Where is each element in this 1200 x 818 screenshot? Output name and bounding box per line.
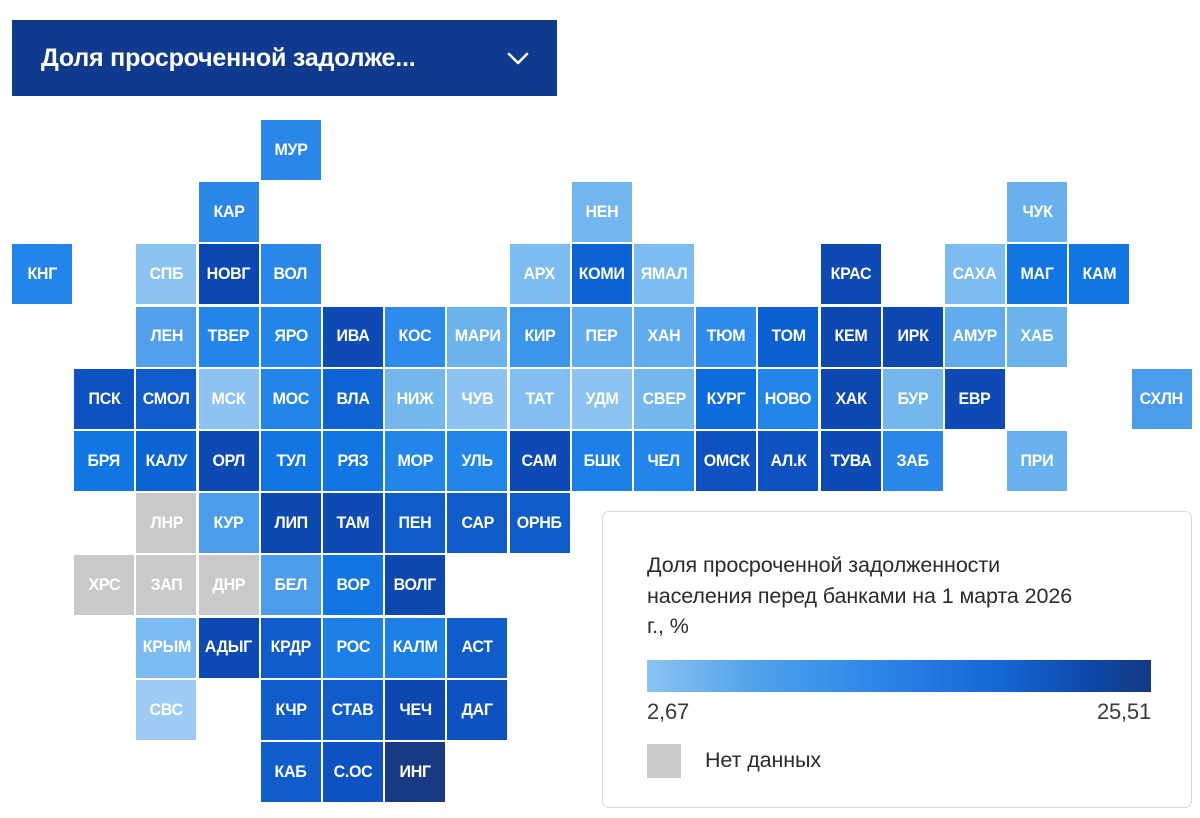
region-tile-label: САХА xyxy=(953,266,997,283)
region-tile-label: ХАБ xyxy=(1021,328,1054,345)
region-tile-МУР[interactable]: МУР xyxy=(261,120,321,180)
region-tile-label: КНГ xyxy=(27,266,57,283)
region-tile-label: ВОЛ xyxy=(274,266,308,283)
region-tile-КЕМ[interactable]: КЕМ xyxy=(821,307,881,367)
region-tile-ЯРО[interactable]: ЯРО xyxy=(261,307,321,367)
region-tile-ЧУК[interactable]: ЧУК xyxy=(1007,182,1067,242)
region-tile-НОВО[interactable]: НОВО xyxy=(758,369,818,429)
region-tile-СХЛН[interactable]: СХЛН xyxy=(1132,369,1192,429)
region-tile-label: ИВА xyxy=(337,328,370,345)
region-tile-ХАН[interactable]: ХАН xyxy=(634,307,694,367)
region-tile-label: КУР xyxy=(214,515,244,532)
region-tile-ТАМ[interactable]: ТАМ xyxy=(323,493,383,553)
region-tile-label: НИЖ xyxy=(397,391,434,408)
region-tile-label: ЛНР xyxy=(150,515,183,532)
region-tile-БУР[interactable]: БУР xyxy=(883,369,943,429)
region-tile-label: КАБ xyxy=(275,764,307,781)
region-tile-ТУВА[interactable]: ТУВА xyxy=(821,431,881,491)
region-tile-label: ВЛА xyxy=(336,391,369,408)
legend-scale: 2,67 25,51 xyxy=(647,699,1151,725)
region-tile-ТЮМ[interactable]: ТЮМ xyxy=(696,307,756,367)
region-tile-label: ОМСК xyxy=(703,453,749,470)
region-tile-СМОЛ[interactable]: СМОЛ xyxy=(136,369,196,429)
region-tile-АСТ[interactable]: АСТ xyxy=(447,618,507,678)
region-tile-label: С.ОС xyxy=(334,764,373,781)
region-tile-label: ВОР xyxy=(336,577,369,594)
region-tile-СТАВ[interactable]: СТАВ xyxy=(323,680,383,740)
region-tile-label: НОВО xyxy=(765,391,811,408)
region-tile-label: ДНР xyxy=(212,577,245,594)
region-tile-МОР[interactable]: МОР xyxy=(385,431,445,491)
legend-min-value: 2,67 xyxy=(647,699,689,725)
region-tile-label: АДЫГ xyxy=(205,639,252,656)
legend-title: Доля просроченной задолженности населени… xyxy=(647,550,1092,642)
region-tile-label: УДМ xyxy=(585,391,618,408)
region-tile-ОРЛ[interactable]: ОРЛ xyxy=(199,431,259,491)
region-tile-label: БРЯ xyxy=(88,453,120,470)
region-tile-МАРИ[interactable]: МАРИ xyxy=(447,307,507,367)
legend-nodata-row: Нет данных xyxy=(647,744,1147,778)
region-tile-label: СВС xyxy=(150,702,183,719)
region-tile-label: РЯЗ xyxy=(338,453,369,470)
region-tile-label: ОРНБ xyxy=(517,515,562,532)
region-tile-ХРС[interactable]: ХРС xyxy=(74,555,134,615)
region-tile-label: ДАГ xyxy=(462,702,493,719)
region-tile-label: МОР xyxy=(397,453,433,470)
region-tile-СПБ[interactable]: СПБ xyxy=(136,244,196,304)
region-tile-КРАС[interactable]: КРАС xyxy=(821,244,881,304)
region-tile-label: ЧУВ xyxy=(461,391,493,408)
region-tile-label: НОВГ xyxy=(207,266,250,283)
region-tile-label: КРДР xyxy=(271,639,311,656)
region-tile-label: ТУВА xyxy=(830,453,871,470)
region-tile-ОРНБ[interactable]: ОРНБ xyxy=(510,493,570,553)
region-tile-label: АМУР xyxy=(953,328,997,345)
region-tile-label: РОС xyxy=(336,639,370,656)
region-tile-label: ПЕР xyxy=(586,328,618,345)
legend-nodata-label: Нет данных xyxy=(705,748,821,773)
region-tile-label: КЧР xyxy=(275,702,306,719)
region-tile-ИРК[interactable]: ИРК xyxy=(883,307,943,367)
indicator-dropdown[interactable]: Доля просроченной задолже... xyxy=(12,20,557,96)
region-tile-label: ПЕН xyxy=(399,515,432,532)
region-tile-СВЕР[interactable]: СВЕР xyxy=(634,369,694,429)
region-tile-ТУЛ[interactable]: ТУЛ xyxy=(261,431,321,491)
region-tile-КАЛМ[interactable]: КАЛМ xyxy=(385,618,445,678)
region-tile-label: ЧЕЧ xyxy=(399,702,431,719)
region-tile-label: КАМ xyxy=(1082,266,1116,283)
region-tile-ПЕР[interactable]: ПЕР xyxy=(572,307,632,367)
region-tile-КУР[interactable]: КУР xyxy=(199,493,259,553)
region-tile-label: ЛЕН xyxy=(150,328,183,345)
region-tile-АРХ[interactable]: АРХ xyxy=(510,244,570,304)
region-tile-ИНГ[interactable]: ИНГ xyxy=(385,742,445,802)
region-tile-МАГ[interactable]: МАГ xyxy=(1007,244,1067,304)
region-tile-label: ЧЕЛ xyxy=(648,453,680,470)
region-tile-label: МУР xyxy=(274,142,307,159)
region-tile-label: МАРИ xyxy=(454,328,500,345)
legend-color-gradient xyxy=(647,660,1151,692)
region-tile-БРЯ[interactable]: БРЯ xyxy=(74,431,134,491)
region-tile-САР[interactable]: САР xyxy=(447,493,507,553)
region-tile-АМУР[interactable]: АМУР xyxy=(945,307,1005,367)
region-tile-ЗАП[interactable]: ЗАП xyxy=(136,555,196,615)
region-tile-label: ЛИП xyxy=(274,515,307,532)
region-tile-МОС[interactable]: МОС xyxy=(261,369,321,429)
region-tile-label: ТОМ xyxy=(771,328,805,345)
region-tile-КУРГ[interactable]: КУРГ xyxy=(696,369,756,429)
region-tile-ХАК[interactable]: ХАК xyxy=(821,369,881,429)
region-tile-ПЕН[interactable]: ПЕН xyxy=(385,493,445,553)
region-tile-label: ЯРО xyxy=(274,328,308,345)
region-tile-ЯМАЛ[interactable]: ЯМАЛ xyxy=(634,244,694,304)
region-tile-ВОЛ[interactable]: ВОЛ xyxy=(261,244,321,304)
region-tile-ЧЕЛ[interactable]: ЧЕЛ xyxy=(634,431,694,491)
region-tile-label: КОС xyxy=(399,328,432,345)
region-tile-label: АСТ xyxy=(462,639,493,656)
region-tile-ЧЕЧ[interactable]: ЧЕЧ xyxy=(385,680,445,740)
region-tile-label: КРАС xyxy=(830,266,871,283)
region-tile-label: САМ xyxy=(522,453,557,470)
region-tile-label: ЧУК xyxy=(1022,204,1052,221)
nodata-swatch-icon xyxy=(647,744,681,778)
region-tile-label: НЕН xyxy=(585,204,618,221)
region-tile-ХАБ[interactable]: ХАБ xyxy=(1007,307,1067,367)
region-tile-КНГ[interactable]: КНГ xyxy=(12,244,72,304)
region-tile-ТВЕР[interactable]: ТВЕР xyxy=(199,307,259,367)
region-tile-КОС[interactable]: КОС xyxy=(385,307,445,367)
region-tile-label: ХАН xyxy=(648,328,681,345)
region-tile-СВС[interactable]: СВС xyxy=(136,680,196,740)
region-tile-НЕН[interactable]: НЕН xyxy=(572,182,632,242)
region-tile-label: ЗАБ xyxy=(897,453,929,470)
legend-max-value: 25,51 xyxy=(1097,699,1151,725)
region-tile-ТОМ[interactable]: ТОМ xyxy=(758,307,818,367)
region-tile-label: ТАТ xyxy=(525,391,553,408)
region-tile-ВОЛГ[interactable]: ВОЛГ xyxy=(385,555,445,615)
region-tile-label: СТАВ xyxy=(332,702,374,719)
region-tile-УДМ[interactable]: УДМ xyxy=(572,369,632,429)
region-tile-label: СВЕР xyxy=(642,391,685,408)
region-tile-КРЫМ[interactable]: КРЫМ xyxy=(136,618,196,678)
region-tile-БШК[interactable]: БШК xyxy=(572,431,632,491)
region-tile-label: ТЮМ xyxy=(707,328,746,345)
region-tile-label: АЛ.К xyxy=(770,453,806,470)
region-tile-label: СПБ xyxy=(150,266,184,283)
indicator-dropdown-label: Доля просроченной задолже... xyxy=(41,44,415,73)
region-tile-label: КРЫМ xyxy=(142,639,190,656)
region-tile-КОМИ[interactable]: КОМИ xyxy=(572,244,632,304)
region-tile-НИЖ[interactable]: НИЖ xyxy=(385,369,445,429)
region-tile-РЯЗ[interactable]: РЯЗ xyxy=(323,431,383,491)
region-tile-ВЛА[interactable]: ВЛА xyxy=(323,369,383,429)
region-tile-РОС[interactable]: РОС xyxy=(323,618,383,678)
legend-panel: Доля просроченной задолженности населени… xyxy=(602,511,1192,808)
region-tile-label: СМОЛ xyxy=(143,391,190,408)
region-tile-label: ЕВР xyxy=(959,391,991,408)
region-tile-label: МСК xyxy=(212,391,246,408)
region-tile-АДЫГ[interactable]: АДЫГ xyxy=(199,618,259,678)
region-tile-label: МОС xyxy=(273,391,309,408)
region-tile-КАЛУ[interactable]: КАЛУ xyxy=(136,431,196,491)
region-tile-label: СХЛН xyxy=(1140,391,1183,408)
region-tile-САХА[interactable]: САХА xyxy=(945,244,1005,304)
region-tile-label: КАР xyxy=(213,204,244,221)
region-tile-ЧУВ[interactable]: ЧУВ xyxy=(447,369,507,429)
region-tile-label: ОРЛ xyxy=(212,453,244,470)
region-tile-label: ТУЛ xyxy=(276,453,305,470)
region-tile-label: КОМИ xyxy=(579,266,625,283)
region-tile-ТАТ[interactable]: ТАТ xyxy=(510,369,570,429)
region-tile-label: ПСК xyxy=(88,391,120,408)
region-tile-label: ТАМ xyxy=(337,515,370,532)
region-tile-label: САР xyxy=(461,515,494,532)
region-tile-ДНР[interactable]: ДНР xyxy=(199,555,259,615)
region-tile-label: ХАК xyxy=(835,391,866,408)
region-tile-ЗАБ[interactable]: ЗАБ xyxy=(883,431,943,491)
region-tile-label: КАЛМ xyxy=(393,639,438,656)
region-tile-КИР[interactable]: КИР xyxy=(510,307,570,367)
region-tile-ЕВР[interactable]: ЕВР xyxy=(945,369,1005,429)
region-tile-ПСК[interactable]: ПСК xyxy=(74,369,134,429)
region-tile-label: КАЛУ xyxy=(146,453,188,470)
region-tile-label: БУР xyxy=(897,391,928,408)
region-tile-ДАГ[interactable]: ДАГ xyxy=(447,680,507,740)
region-tile-НОВГ[interactable]: НОВГ xyxy=(199,244,259,304)
region-tile-КРДР[interactable]: КРДР xyxy=(261,618,321,678)
region-tile-ПРИ[interactable]: ПРИ xyxy=(1007,431,1067,491)
region-tile-label: ПРИ xyxy=(1021,453,1054,470)
region-tile-КАБ[interactable]: КАБ xyxy=(261,742,321,802)
region-tile-КАМ[interactable]: КАМ xyxy=(1069,244,1129,304)
region-tile-label: ТВЕР xyxy=(208,328,250,345)
region-tile-label: ИНГ xyxy=(400,764,431,781)
region-tile-С.ОС[interactable]: С.ОС xyxy=(323,742,383,802)
chevron-down-icon xyxy=(501,41,535,75)
region-tile-ОМСК[interactable]: ОМСК xyxy=(696,431,756,491)
region-tile-КАР[interactable]: КАР xyxy=(199,182,259,242)
region-tile-ЛЕН[interactable]: ЛЕН xyxy=(136,307,196,367)
region-tile-БЕЛ[interactable]: БЕЛ xyxy=(261,555,321,615)
region-tile-ЛНР[interactable]: ЛНР xyxy=(136,493,196,553)
region-tile-label: ЯМАЛ xyxy=(641,266,688,283)
region-tile-label: ХРС xyxy=(88,577,120,594)
region-tile-label: БШК xyxy=(584,453,620,470)
region-tile-label: БЕЛ xyxy=(275,577,308,594)
region-tile-ЛИП[interactable]: ЛИП xyxy=(261,493,321,553)
region-tile-АЛ.К[interactable]: АЛ.К xyxy=(758,431,818,491)
region-tile-label: ИРК xyxy=(897,328,928,345)
region-tile-МСК[interactable]: МСК xyxy=(199,369,259,429)
region-tile-КЧР[interactable]: КЧР xyxy=(261,680,321,740)
region-tile-label: КИР xyxy=(524,328,555,345)
region-tile-label: ЗАП xyxy=(150,577,182,594)
region-tile-САМ[interactable]: САМ xyxy=(510,431,570,491)
region-tile-label: КЕМ xyxy=(834,328,867,345)
region-tile-label: МАГ xyxy=(1021,266,1054,283)
region-tile-ВОР[interactable]: ВОР xyxy=(323,555,383,615)
region-tile-label: КУРГ xyxy=(707,391,746,408)
region-tile-УЛЬ[interactable]: УЛЬ xyxy=(447,431,507,491)
region-tile-label: АРХ xyxy=(524,266,555,283)
region-tile-label: ВОЛГ xyxy=(394,577,436,594)
region-tile-ИВА[interactable]: ИВА xyxy=(323,307,383,367)
region-tile-label: УЛЬ xyxy=(462,453,493,470)
